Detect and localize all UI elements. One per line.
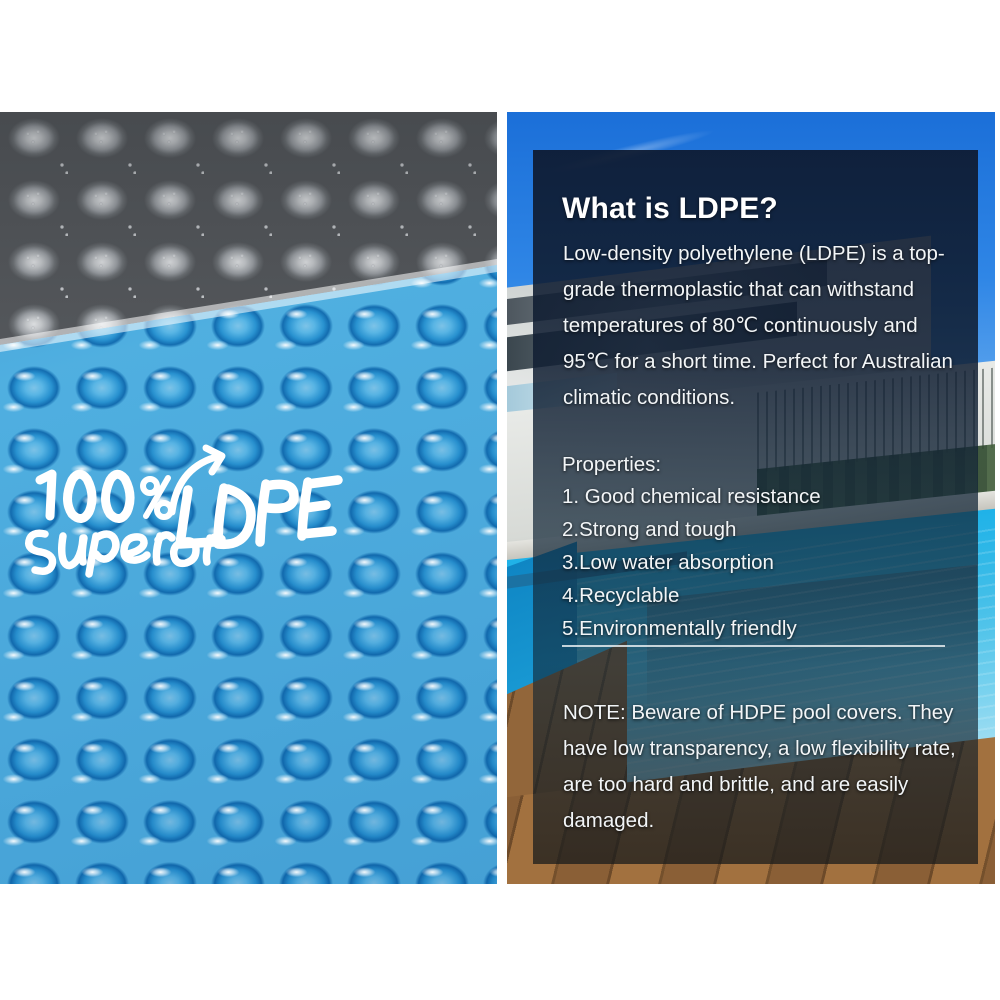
list-item: 2.Strong and tough bbox=[562, 513, 954, 546]
list-item: 3.Low water absorption bbox=[562, 546, 954, 579]
list-item: 1. Good chemical resistance bbox=[562, 480, 954, 513]
card-heading: What is LDPE? bbox=[562, 192, 778, 226]
product-infographic: What is LDPE? Low-density polyethylene (… bbox=[0, 0, 1000, 1000]
properties-list: 1. Good chemical resistance 2.Strong and… bbox=[562, 480, 954, 645]
properties-label: Properties: bbox=[562, 448, 661, 482]
list-item: 4.Recyclable bbox=[562, 579, 954, 612]
card-note: NOTE: Beware of HDPE pool covers. They h… bbox=[563, 695, 963, 839]
left-image-panel bbox=[0, 112, 497, 884]
section-divider bbox=[562, 645, 945, 647]
right-image-panel: What is LDPE? Low-density polyethylene (… bbox=[507, 112, 995, 884]
card-paragraph: Low-density polyethylene (LDPE) is a top… bbox=[563, 236, 955, 416]
info-card: What is LDPE? Low-density polyethylene (… bbox=[533, 150, 978, 864]
list-item: 5.Environmentally friendly bbox=[562, 612, 954, 645]
